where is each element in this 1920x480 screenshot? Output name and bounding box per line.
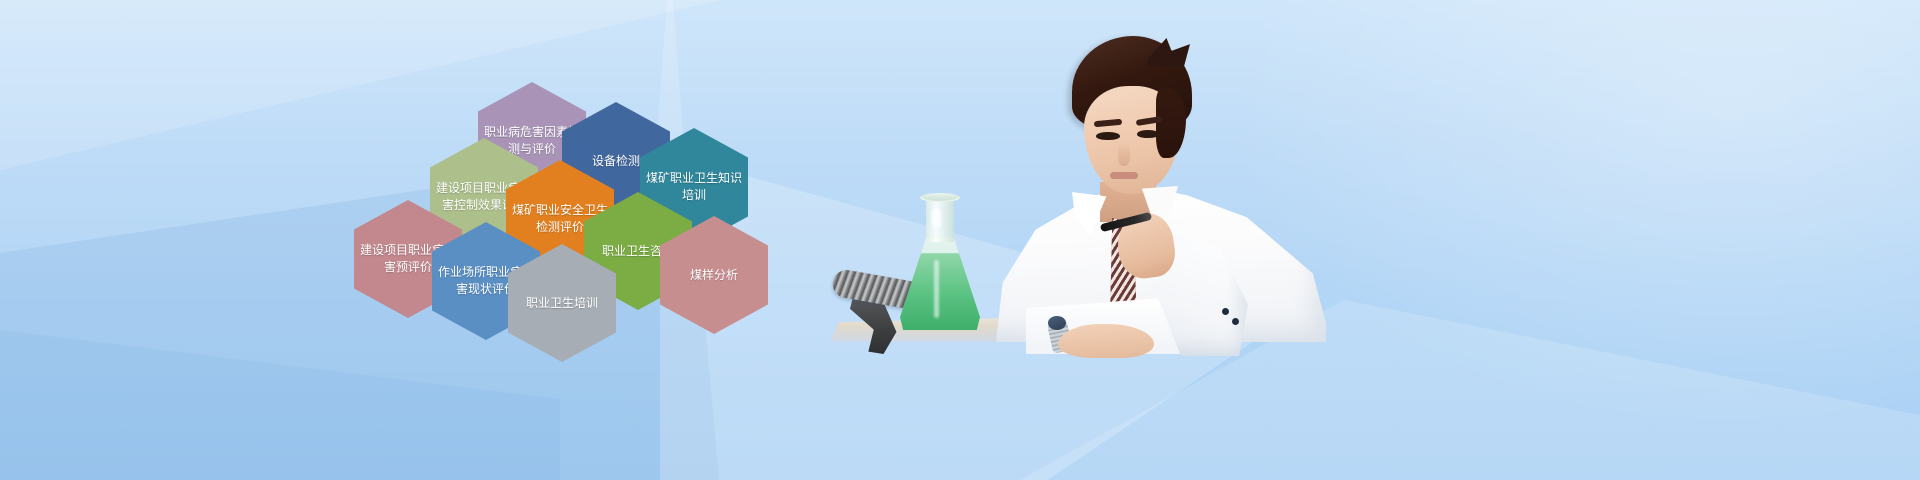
flask-lip — [920, 193, 960, 202]
flask-highlight — [932, 208, 941, 228]
wristwatch-face — [1048, 316, 1066, 330]
eye-right — [1137, 130, 1159, 138]
mouth — [1110, 172, 1138, 179]
banner-root: 职业病危害因素检测与评价设备检测煤矿职业卫生知识培训建设项目职业病危害控制效果评… — [0, 0, 1920, 480]
cuff-button — [1232, 318, 1239, 325]
laboratory-photo-scene — [820, 0, 1380, 480]
hex-label: 职业卫生培训 — [510, 295, 614, 312]
nose — [1118, 142, 1130, 166]
flask-liquid-shine — [934, 260, 939, 318]
eye-left — [1096, 132, 1120, 140]
cuff-button — [1222, 308, 1229, 315]
hand-resting — [1058, 324, 1154, 358]
sideburn — [1156, 88, 1186, 158]
erlenmeyer-flask — [900, 196, 980, 330]
flask-body — [900, 238, 980, 330]
service-hexagon-cluster: 职业病危害因素检测与评价设备检测煤矿职业卫生知识培训建设项目职业病危害控制效果评… — [330, 50, 780, 350]
background-facet-bottom-left — [0, 330, 560, 480]
hex-label: 煤矿职业卫生知识培训 — [642, 170, 746, 203]
hex-label: 煤样分析 — [662, 267, 766, 284]
researcher-portrait — [996, 36, 1326, 342]
